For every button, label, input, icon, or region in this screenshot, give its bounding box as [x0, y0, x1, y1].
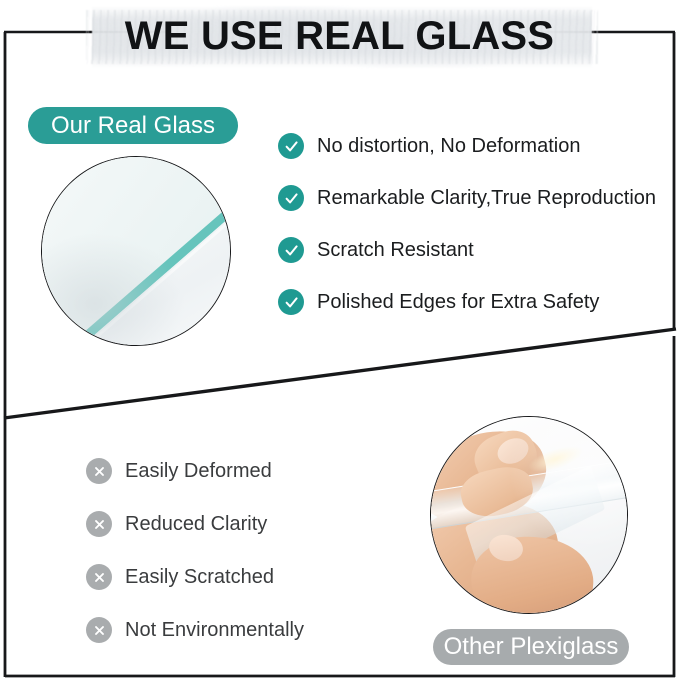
check-icon: [278, 185, 304, 211]
infographic-canvas: WE USE REAL GLASS Our Real Glass No dist…: [0, 0, 679, 691]
photo-highlight: [431, 417, 627, 613]
page-title: WE USE REAL GLASS: [0, 14, 679, 59]
x-icon: [86, 617, 112, 643]
list-item: Not Environmentally: [86, 617, 304, 643]
list-item: Easily Scratched: [86, 564, 274, 590]
badge-our-real-glass: Our Real Glass: [28, 107, 238, 144]
check-icon: [278, 289, 304, 315]
list-item: Reduced Clarity: [86, 511, 267, 537]
x-icon: [86, 458, 112, 484]
list-item-label: Remarkable Clarity,True Reproduction: [317, 187, 656, 210]
list-item: Easily Deformed: [86, 458, 272, 484]
list-item-label: No distortion, No Deformation: [317, 135, 580, 158]
list-item-label: Easily Scratched: [125, 566, 274, 589]
list-item: Scratch Resistant: [278, 237, 474, 263]
check-icon: [278, 237, 304, 263]
list-item-label: Scratch Resistant: [317, 239, 474, 262]
real-glass-photo: [41, 156, 231, 346]
list-item-label: Easily Deformed: [125, 460, 272, 483]
list-item-label: Not Environmentally: [125, 619, 304, 642]
list-item-label: Polished Edges for Extra Safety: [317, 291, 599, 314]
x-icon: [86, 564, 112, 590]
x-icon: [86, 511, 112, 537]
glass-shadow: [42, 157, 230, 345]
list-item: No distortion, No Deformation: [278, 133, 580, 159]
list-item: Remarkable Clarity,True Reproduction: [278, 185, 656, 211]
list-item: Polished Edges for Extra Safety: [278, 289, 599, 315]
plexiglass-photo: [430, 416, 628, 614]
check-icon: [278, 133, 304, 159]
badge-other-plexiglass: Other Plexiglass: [433, 629, 629, 665]
list-item-label: Reduced Clarity: [125, 513, 267, 536]
